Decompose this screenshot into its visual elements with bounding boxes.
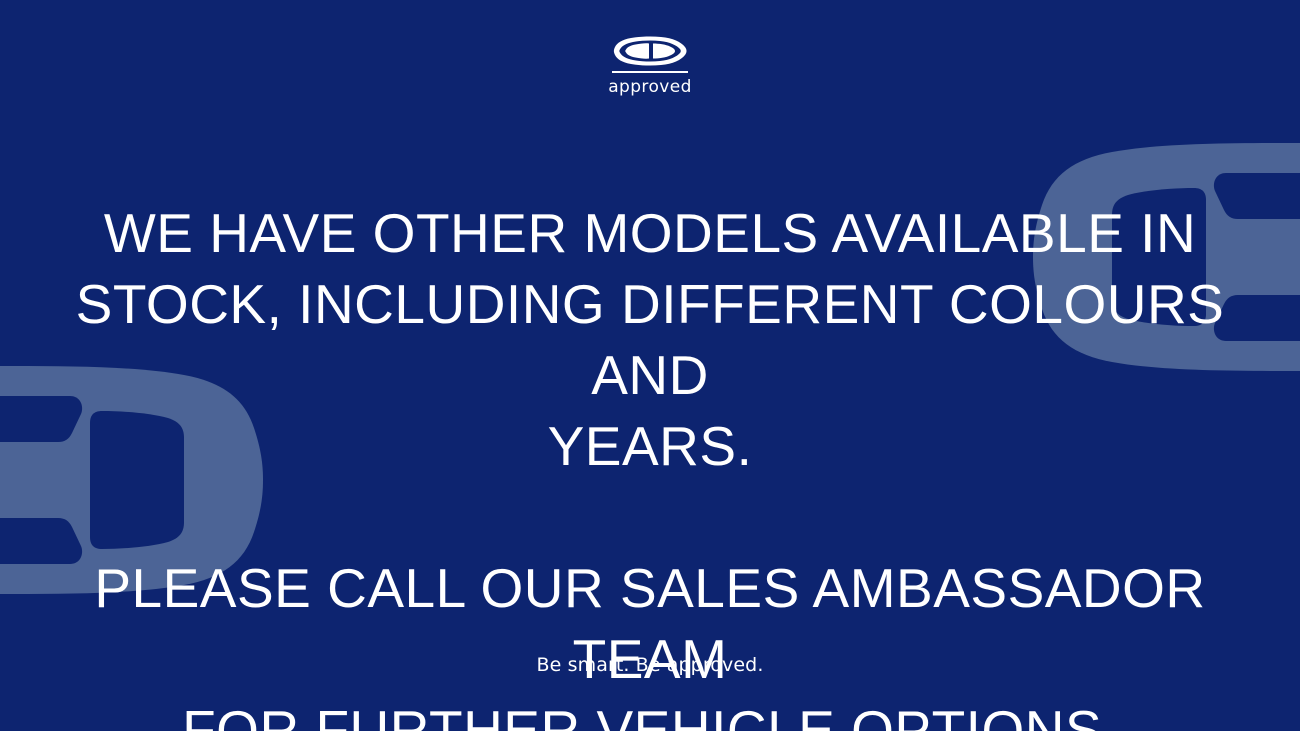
car-top-view-icon (611, 36, 689, 66)
main-message: WE HAVE OTHER MODELS AVAILABLE IN STOCK,… (0, 198, 1300, 731)
logo-wordmark: approved (608, 79, 692, 96)
brand-logo: approved (0, 36, 1300, 96)
headline-paragraph-1: WE HAVE OTHER MODELS AVAILABLE IN STOCK,… (0, 198, 1300, 482)
logo-divider (612, 71, 688, 73)
promotional-banner: approved WE HAVE OTHER MODELS AVAILABLE … (0, 0, 1300, 731)
brand-tagline: Be smart. Be approved. (0, 656, 1300, 675)
headline-paragraph-2: PLEASE CALL OUR SALES AMBASSADOR TEAM FO… (0, 553, 1300, 731)
